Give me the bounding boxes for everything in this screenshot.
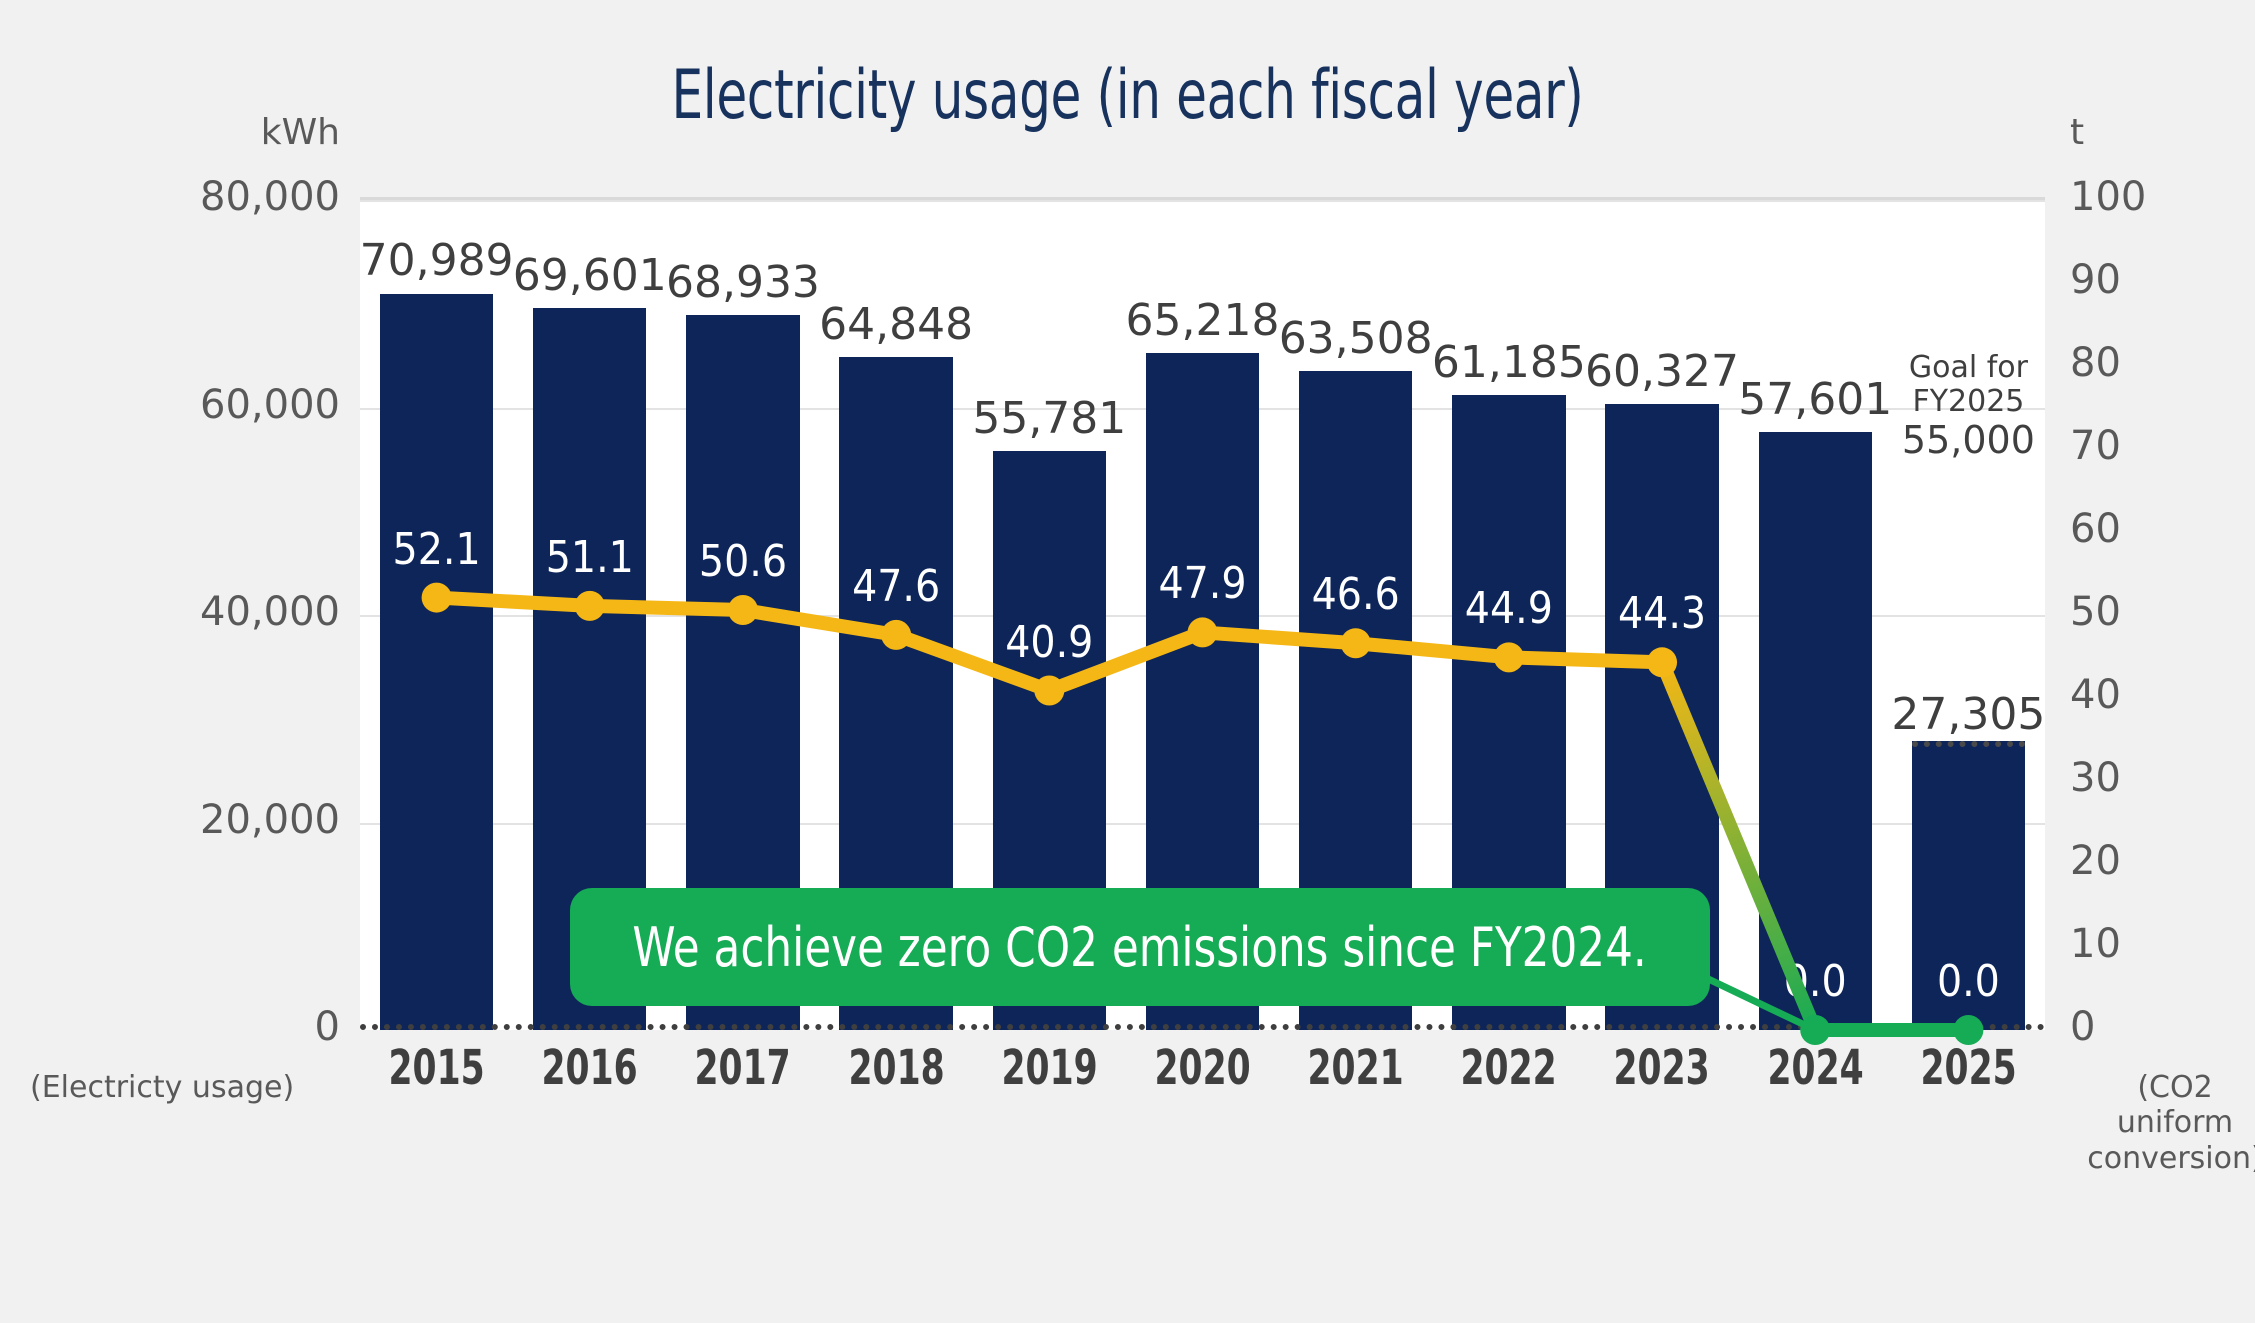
line-value-label: 47.9 (1118, 558, 1287, 609)
bar (1759, 432, 1872, 1030)
zero-emissions-callout: We achieve zero CO2 emissions since FY20… (570, 888, 1710, 1006)
right-axis-tick-label: 20 (2070, 838, 2180, 884)
right-axis-tick-label: 10 (2070, 921, 2180, 967)
bar (380, 294, 493, 1031)
left-axis-tick-label: 80,000 (170, 174, 340, 220)
left-axis-tick-label: 0 (170, 1004, 340, 1050)
bar-value-label: 63,508 (1268, 313, 1444, 364)
right-axis-tick-label: 60 (2070, 506, 2180, 552)
x-axis-tick-label: 2015 (375, 1040, 498, 1096)
line-value-label: 44.9 (1425, 583, 1594, 634)
right-axis-caption-line-2: uniform (2085, 1105, 2255, 1140)
goal-annotation: Goal for FY2025 55,000 (1848, 351, 2088, 461)
zero-baseline (360, 1024, 2045, 1030)
bar-value-label: 68,933 (655, 257, 831, 308)
x-axis-tick-label: 2019 (988, 1040, 1111, 1096)
line-value-label: 0.0 (1884, 956, 2053, 1007)
zero-emissions-callout-text: We achieve zero CO2 emissions since FY20… (633, 916, 1647, 979)
right-axis-unit: t (2070, 112, 2084, 153)
right-axis-tick-label: 0 (2070, 1004, 2180, 1050)
left-axis-tick-label: 20,000 (170, 797, 340, 843)
x-axis-tick-label: 2021 (1294, 1040, 1417, 1096)
line-value-label: 44.3 (1578, 588, 1747, 639)
right-axis-tick-label: 90 (2070, 257, 2180, 303)
right-axis-tick-label: 50 (2070, 589, 2180, 635)
x-axis-tick-label: 2024 (1754, 1040, 1877, 1096)
x-axis-tick-label: 2025 (1907, 1040, 2030, 1096)
left-axis-caption: (Electricty usage) (30, 1070, 360, 1105)
x-axis-tick-label: 2016 (528, 1040, 651, 1096)
bar-value-label: 55,781 (961, 393, 1137, 444)
line-value-label: 51.1 (506, 532, 675, 583)
line-value-label: 46.6 (1271, 569, 1440, 620)
x-axis-tick-label: 2023 (1601, 1040, 1724, 1096)
line-value-label: 52.1 (352, 524, 521, 575)
bar-value-label: 60,327 (1574, 346, 1750, 397)
left-axis-tick-label: 40,000 (170, 589, 340, 635)
x-axis-labels: 2015201620172018201920202021202220232024… (360, 1040, 2045, 1110)
x-axis-tick-label: 2022 (1448, 1040, 1571, 1096)
right-axis-tick-label: 100 (2070, 174, 2180, 220)
bar-value-label: 61,185 (1421, 337, 1597, 388)
x-axis-tick-label: 2018 (835, 1040, 958, 1096)
right-axis-tick-label: 30 (2070, 755, 2180, 801)
line-value-label: 47.6 (812, 561, 981, 612)
right-axis-caption-line-1: (CO2 (2085, 1070, 2255, 1105)
line-value-label: 0.0 (1731, 956, 1900, 1007)
goal-line-1: Goal for (1848, 351, 2088, 385)
line-value-label: 40.9 (965, 617, 1134, 668)
x-axis-tick-label: 2017 (682, 1040, 805, 1096)
left-axis-unit: kWh (190, 112, 340, 153)
chart-title: Electricity usage (in each fiscal year) (203, 56, 2052, 135)
bar-value-label: 27,305 (1880, 689, 2056, 740)
bar-value-label: 65,218 (1114, 295, 1290, 346)
right-axis-tick-label: 40 (2070, 672, 2180, 718)
line-value-label: 50.6 (659, 536, 828, 587)
right-axis-caption: (CO2 uniform conversion) (2085, 1070, 2255, 1176)
bar-value-label: 64,848 (808, 299, 984, 350)
goal-value: 55,000 (1848, 419, 2088, 462)
left-axis-tick-label: 60,000 (170, 382, 340, 428)
goal-line-2: FY2025 (1848, 385, 2088, 419)
x-axis-tick-label: 2020 (1141, 1040, 1264, 1096)
bar-value-label: 70,989 (349, 235, 525, 286)
right-axis-caption-line-3: conversion) (2085, 1141, 2255, 1176)
bar-value-label: 69,601 (502, 250, 678, 301)
